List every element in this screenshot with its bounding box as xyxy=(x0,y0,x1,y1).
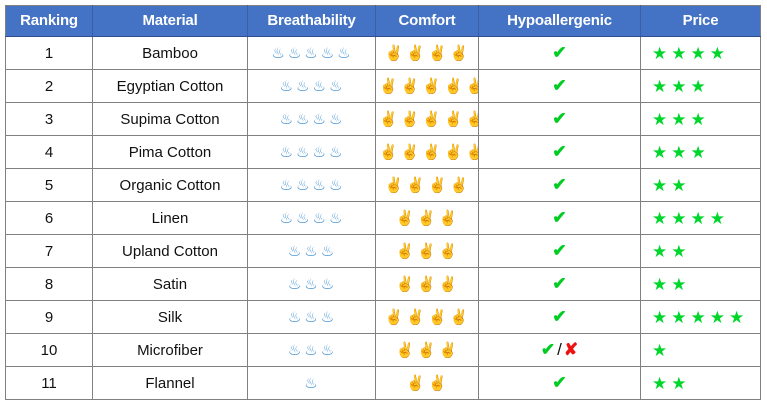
star-icon: ★ xyxy=(691,78,708,95)
victory-hand-icon: ✌ xyxy=(417,277,437,292)
victory-hand-icon: ✌ xyxy=(401,145,421,160)
hot-springs-icon: ♨ xyxy=(280,79,294,94)
cell-hypoallergenic: ✔ xyxy=(479,37,641,70)
cell-material: Microfiber xyxy=(93,334,248,367)
hot-springs-icon: ♨ xyxy=(296,211,310,226)
hot-springs-icon: ♨ xyxy=(304,343,318,358)
victory-hand-icon: ✌ xyxy=(439,211,459,226)
check-mark-icon: ✔ xyxy=(552,373,566,392)
column-header-material: Material xyxy=(93,6,248,37)
star-icon: ★ xyxy=(671,210,688,227)
star-icon: ★ xyxy=(652,276,669,293)
cell-ranking: 11 xyxy=(6,367,93,400)
victory-hand-icon: ✌ xyxy=(466,145,479,160)
cell-comfort: ✌✌✌✌ xyxy=(376,37,479,70)
hot-springs-icon: ♨ xyxy=(288,277,302,292)
star-icon: ★ xyxy=(671,243,688,260)
cell-price: ★★ xyxy=(641,268,761,301)
victory-hand-icon: ✌ xyxy=(444,112,464,127)
victory-hand-icon: ✌ xyxy=(450,46,470,61)
star-icon: ★ xyxy=(652,375,669,392)
cell-breathability: ♨♨♨♨ xyxy=(248,202,376,235)
cell-hypoallergenic: ✔ xyxy=(479,367,641,400)
star-icon: ★ xyxy=(671,309,688,326)
hot-springs-icon: ♨ xyxy=(280,211,294,226)
cell-price: ★★ xyxy=(641,169,761,202)
cell-ranking: 9 xyxy=(6,301,93,334)
hot-springs-icon: ♨ xyxy=(313,112,327,127)
check-mark-icon: ✔ xyxy=(552,175,566,194)
victory-hand-icon: ✌ xyxy=(450,178,470,193)
column-header-ranking: Ranking xyxy=(6,6,93,37)
cell-ranking: 10 xyxy=(6,334,93,367)
cell-price: ★ xyxy=(641,334,761,367)
table-row: 10Microfiber♨♨♨✌✌✌✔/✘★ xyxy=(6,334,761,367)
column-header-price: Price xyxy=(641,6,761,37)
table-header: Ranking Material Breathability Comfort H… xyxy=(6,6,761,37)
cell-hypoallergenic: ✔ xyxy=(479,235,641,268)
cell-material: Supima Cotton xyxy=(93,103,248,136)
victory-hand-icon: ✌ xyxy=(422,79,442,94)
hot-springs-icon: ♨ xyxy=(313,211,327,226)
cell-ranking: 1 xyxy=(6,37,93,70)
hot-springs-icon: ♨ xyxy=(329,112,343,127)
hot-springs-icon: ♨ xyxy=(280,178,294,193)
victory-hand-icon: ✌ xyxy=(428,310,448,325)
victory-hand-icon: ✌ xyxy=(395,277,415,292)
cell-price: ★★★★ xyxy=(641,37,761,70)
star-icon: ★ xyxy=(671,144,688,161)
star-icon: ★ xyxy=(652,45,669,62)
hot-springs-icon: ♨ xyxy=(321,244,335,259)
hot-springs-icon: ♨ xyxy=(313,79,327,94)
table-row: 9Silk♨♨♨✌✌✌✌✔★★★★★ xyxy=(6,301,761,334)
star-icon: ★ xyxy=(710,210,727,227)
victory-hand-icon: ✌ xyxy=(401,112,421,127)
check-mark-icon: ✔ xyxy=(552,274,566,293)
cell-price: ★★★★★ xyxy=(641,301,761,334)
victory-hand-icon: ✌ xyxy=(406,46,426,61)
victory-hand-icon: ✌ xyxy=(385,46,405,61)
cell-comfort: ✌✌✌ xyxy=(376,235,479,268)
victory-hand-icon: ✌ xyxy=(466,79,479,94)
cell-material: Silk xyxy=(93,301,248,334)
star-icon: ★ xyxy=(691,45,708,62)
cell-hypoallergenic: ✔ xyxy=(479,301,641,334)
hot-springs-icon: ♨ xyxy=(296,145,310,160)
comparison-table-container: Ranking Material Breathability Comfort H… xyxy=(5,5,760,400)
star-icon: ★ xyxy=(652,111,669,128)
table-row: 8Satin♨♨♨✌✌✌✔★★ xyxy=(6,268,761,301)
table-row: 6Linen♨♨♨♨✌✌✌✔★★★★ xyxy=(6,202,761,235)
cell-comfort: ✌✌✌✌✌ xyxy=(376,103,479,136)
hot-springs-icon: ♨ xyxy=(329,145,343,160)
cell-breathability: ♨♨♨♨♨ xyxy=(248,37,376,70)
hot-springs-icon: ♨ xyxy=(296,79,310,94)
victory-hand-icon: ✌ xyxy=(385,310,405,325)
star-icon: ★ xyxy=(652,210,669,227)
cell-hypoallergenic: ✔ xyxy=(479,268,641,301)
cell-material: Satin xyxy=(93,268,248,301)
material-comparison-table: Ranking Material Breathability Comfort H… xyxy=(5,5,761,400)
table-row: 4Pima Cotton♨♨♨♨✌✌✌✌✌✔★★★ xyxy=(6,136,761,169)
hot-springs-icon: ♨ xyxy=(329,211,343,226)
star-icon: ★ xyxy=(652,78,669,95)
hot-springs-icon: ♨ xyxy=(321,310,335,325)
hot-springs-icon: ♨ xyxy=(288,343,302,358)
cell-price: ★★★ xyxy=(641,70,761,103)
cell-hypoallergenic: ✔ xyxy=(479,103,641,136)
cell-hypoallergenic: ✔ xyxy=(479,70,641,103)
hot-springs-icon: ♨ xyxy=(296,178,310,193)
hot-springs-icon: ♨ xyxy=(337,46,351,61)
cell-hypoallergenic: ✔ xyxy=(479,169,641,202)
hot-springs-icon: ♨ xyxy=(313,178,327,193)
cell-comfort: ✌✌✌✌✌ xyxy=(376,70,479,103)
cell-comfort: ✌✌ xyxy=(376,367,479,400)
cell-price: ★★ xyxy=(641,367,761,400)
cross-mark-icon: ✘ xyxy=(564,340,578,359)
cell-breathability: ♨♨♨♨ xyxy=(248,103,376,136)
check-mark-icon: ✔ xyxy=(552,208,566,227)
victory-hand-icon: ✌ xyxy=(439,343,459,358)
cell-hypoallergenic: ✔ xyxy=(479,136,641,169)
table-row: 5Organic Cotton♨♨♨♨✌✌✌✌✔★★ xyxy=(6,169,761,202)
cell-breathability: ♨♨♨ xyxy=(248,334,376,367)
hot-springs-icon: ♨ xyxy=(280,145,294,160)
victory-hand-icon: ✌ xyxy=(395,211,415,226)
check-mark-icon: ✔ xyxy=(552,241,566,260)
star-icon: ★ xyxy=(671,45,688,62)
cell-breathability: ♨♨♨ xyxy=(248,301,376,334)
cell-breathability: ♨ xyxy=(248,367,376,400)
cell-hypoallergenic: ✔/✘ xyxy=(479,334,641,367)
check-mark-icon: ✔ xyxy=(552,43,566,62)
cell-material: Upland Cotton xyxy=(93,235,248,268)
victory-hand-icon: ✌ xyxy=(385,178,405,193)
hot-springs-icon: ♨ xyxy=(304,46,318,61)
hot-springs-icon: ♨ xyxy=(296,112,310,127)
column-header-breathability: Breathability xyxy=(248,6,376,37)
hot-springs-icon: ♨ xyxy=(280,112,294,127)
cell-comfort: ✌✌✌ xyxy=(376,268,479,301)
table-row: 2Egyptian Cotton♨♨♨♨✌✌✌✌✌✔★★★ xyxy=(6,70,761,103)
star-icon: ★ xyxy=(652,177,669,194)
victory-hand-icon: ✌ xyxy=(417,211,437,226)
hot-springs-icon: ♨ xyxy=(304,310,318,325)
cell-ranking: 8 xyxy=(6,268,93,301)
victory-hand-icon: ✌ xyxy=(395,343,415,358)
cell-comfort: ✌✌✌✌✌ xyxy=(376,136,479,169)
hot-springs-icon: ♨ xyxy=(321,277,335,292)
star-icon: ★ xyxy=(652,144,669,161)
cell-price: ★★ xyxy=(641,235,761,268)
cell-ranking: 7 xyxy=(6,235,93,268)
cell-price: ★★★★ xyxy=(641,202,761,235)
hot-springs-icon: ♨ xyxy=(304,277,318,292)
table-body: 1Bamboo♨♨♨♨♨✌✌✌✌✔★★★★2Egyptian Cotton♨♨♨… xyxy=(6,37,761,400)
check-mark-icon: ✔ xyxy=(552,109,566,128)
star-icon: ★ xyxy=(671,78,688,95)
column-header-comfort: Comfort xyxy=(376,6,479,37)
victory-hand-icon: ✌ xyxy=(466,112,479,127)
victory-hand-icon: ✌ xyxy=(417,343,437,358)
star-icon: ★ xyxy=(729,309,746,326)
victory-hand-icon: ✌ xyxy=(395,244,415,259)
victory-hand-icon: ✌ xyxy=(422,112,442,127)
cell-material: Egyptian Cotton xyxy=(93,70,248,103)
separator: / xyxy=(555,340,564,359)
star-icon: ★ xyxy=(652,309,669,326)
star-icon: ★ xyxy=(691,210,708,227)
victory-hand-icon: ✌ xyxy=(401,79,421,94)
victory-hand-icon: ✌ xyxy=(439,277,459,292)
table-header-row: Ranking Material Breathability Comfort H… xyxy=(6,6,761,37)
star-icon: ★ xyxy=(691,309,708,326)
star-icon: ★ xyxy=(691,111,708,128)
cell-ranking: 2 xyxy=(6,70,93,103)
victory-hand-icon: ✌ xyxy=(450,310,470,325)
hot-springs-icon: ♨ xyxy=(321,46,335,61)
star-icon: ★ xyxy=(710,309,727,326)
victory-hand-icon: ✌ xyxy=(428,46,448,61)
table-row: 11Flannel♨✌✌✔★★ xyxy=(6,367,761,400)
victory-hand-icon: ✌ xyxy=(406,178,426,193)
check-mark-icon: ✔ xyxy=(552,76,566,95)
hot-springs-icon: ♨ xyxy=(288,310,302,325)
cell-material: Bamboo xyxy=(93,37,248,70)
hot-springs-icon: ♨ xyxy=(288,46,302,61)
star-icon: ★ xyxy=(671,276,688,293)
cell-material: Linen xyxy=(93,202,248,235)
cell-ranking: 4 xyxy=(6,136,93,169)
star-icon: ★ xyxy=(691,144,708,161)
cell-breathability: ♨♨♨ xyxy=(248,268,376,301)
cell-comfort: ✌✌✌✌ xyxy=(376,169,479,202)
cell-breathability: ♨♨♨♨ xyxy=(248,169,376,202)
cell-breathability: ♨♨♨♨ xyxy=(248,70,376,103)
check-mark-icon: ✔ xyxy=(552,142,566,161)
cell-comfort: ✌✌✌✌ xyxy=(376,301,479,334)
victory-hand-icon: ✌ xyxy=(428,178,448,193)
cell-breathability: ♨♨♨♨ xyxy=(248,136,376,169)
hot-springs-icon: ♨ xyxy=(304,244,318,259)
hot-springs-icon: ♨ xyxy=(271,46,285,61)
table-row: 7Upland Cotton♨♨♨✌✌✌✔★★ xyxy=(6,235,761,268)
check-mark-icon: ✔ xyxy=(541,340,555,359)
cell-price: ★★★ xyxy=(641,103,761,136)
star-icon: ★ xyxy=(671,177,688,194)
hot-springs-icon: ♨ xyxy=(329,79,343,94)
cell-comfort: ✌✌✌ xyxy=(376,334,479,367)
cell-breathability: ♨♨♨ xyxy=(248,235,376,268)
cell-ranking: 5 xyxy=(6,169,93,202)
victory-hand-icon: ✌ xyxy=(406,310,426,325)
table-row: 3Supima Cotton♨♨♨♨✌✌✌✌✌✔★★★ xyxy=(6,103,761,136)
victory-hand-icon: ✌ xyxy=(444,79,464,94)
victory-hand-icon: ✌ xyxy=(428,376,448,391)
star-icon: ★ xyxy=(710,45,727,62)
star-icon: ★ xyxy=(671,111,688,128)
hot-springs-icon: ♨ xyxy=(329,178,343,193)
victory-hand-icon: ✌ xyxy=(379,79,399,94)
cell-material: Pima Cotton xyxy=(93,136,248,169)
victory-hand-icon: ✌ xyxy=(439,244,459,259)
table-row: 1Bamboo♨♨♨♨♨✌✌✌✌✔★★★★ xyxy=(6,37,761,70)
victory-hand-icon: ✌ xyxy=(406,376,426,391)
hot-springs-icon: ♨ xyxy=(313,145,327,160)
victory-hand-icon: ✌ xyxy=(379,145,399,160)
cell-hypoallergenic: ✔ xyxy=(479,202,641,235)
victory-hand-icon: ✌ xyxy=(379,112,399,127)
victory-hand-icon: ✌ xyxy=(444,145,464,160)
star-icon: ★ xyxy=(671,375,688,392)
cell-price: ★★★ xyxy=(641,136,761,169)
hot-springs-icon: ♨ xyxy=(321,343,335,358)
star-icon: ★ xyxy=(652,243,669,260)
star-icon: ★ xyxy=(652,342,669,359)
cell-material: Organic Cotton xyxy=(93,169,248,202)
cell-ranking: 6 xyxy=(6,202,93,235)
cell-material: Flannel xyxy=(93,367,248,400)
victory-hand-icon: ✌ xyxy=(422,145,442,160)
cell-comfort: ✌✌✌ xyxy=(376,202,479,235)
cell-ranking: 3 xyxy=(6,103,93,136)
hot-springs-icon: ♨ xyxy=(288,244,302,259)
victory-hand-icon: ✌ xyxy=(417,244,437,259)
column-header-hypoallergenic: Hypoallergenic xyxy=(479,6,641,37)
check-mark-icon: ✔ xyxy=(552,307,566,326)
hot-springs-icon: ♨ xyxy=(304,376,318,391)
